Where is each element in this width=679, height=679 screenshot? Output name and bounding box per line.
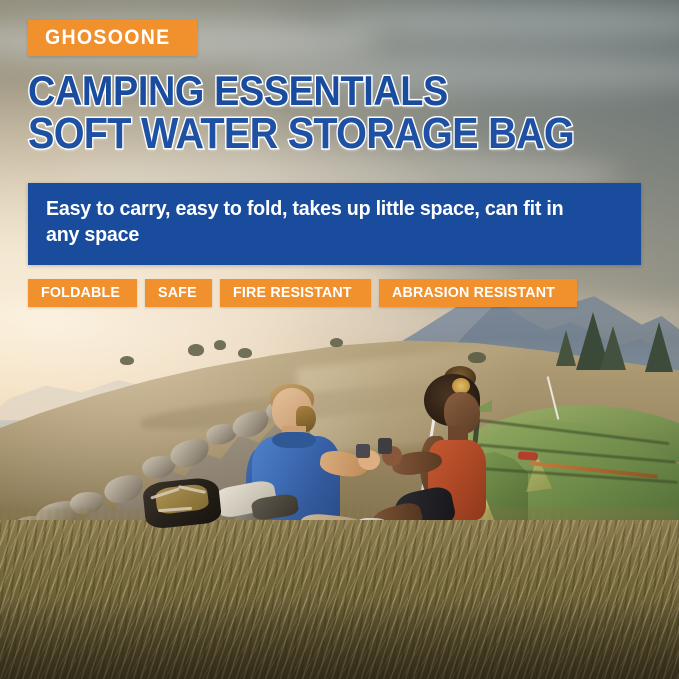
page-title-line2: SOFT WATER STORAGE BAG bbox=[28, 112, 574, 156]
grass-shadow bbox=[0, 600, 679, 679]
feature-tag-label: FIRE RESISTANT bbox=[233, 285, 352, 300]
description-text: Easy to carry, easy to fold, takes up li… bbox=[46, 196, 600, 248]
feature-tag-fire-resistant: FIRE RESISTANT bbox=[220, 279, 371, 307]
feature-tag-list: FOLDABLE SAFE FIRE RESISTANT ABRASION RE… bbox=[28, 279, 577, 307]
feature-tag-label: ABRASION RESISTANT bbox=[392, 285, 555, 300]
brand-name: GHOSOONE bbox=[45, 27, 170, 48]
feature-tag-abrasion-resistant: ABRASION RESISTANT bbox=[379, 279, 577, 307]
description-box: Easy to carry, easy to fold, takes up li… bbox=[28, 183, 641, 265]
feature-tag-foldable: FOLDABLE bbox=[28, 279, 137, 307]
man-collar bbox=[272, 432, 316, 448]
page-title-line1: CAMPING ESSENTIALS bbox=[28, 70, 448, 112]
brand-badge: GHOSOONE bbox=[28, 20, 197, 56]
feature-tag-label: FOLDABLE bbox=[41, 285, 120, 300]
cup bbox=[378, 438, 392, 454]
product-marketing-image: GHOSOONE CAMPING ESSENTIALS SOFT WATER S… bbox=[0, 0, 679, 679]
feature-tag-safe: SAFE bbox=[145, 279, 212, 307]
cup bbox=[356, 444, 370, 458]
feature-tag-label: SAFE bbox=[158, 285, 197, 300]
